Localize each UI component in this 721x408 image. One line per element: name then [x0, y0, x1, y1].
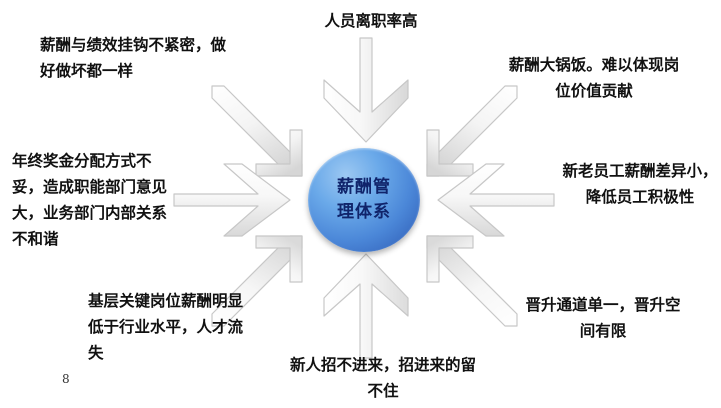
arrow-from-right: [432, 162, 558, 240]
slide-canvas: 薪酬管 理体系 薪酬与绩效挂钩不紧密，做好做坏都一样 人员离职率高 薪酬大锅饭。…: [0, 0, 721, 408]
arrow-from-bottom: [318, 252, 412, 364]
label-bottom: 新人招不进来，招进来的留不住: [288, 352, 478, 404]
page-number: 8: [62, 372, 70, 386]
arrow-from-top: [318, 36, 412, 148]
arrow-from-left: [172, 162, 298, 240]
center-circle-line-2: 理体系: [337, 200, 391, 225]
label-bottom-right: 晋升通道单一，晋升空间有限: [518, 292, 688, 344]
label-top-right: 薪酬大锅饭。难以体现岗位价值贡献: [508, 52, 680, 104]
center-circle: 薪酬管 理体系: [308, 148, 420, 252]
center-circle-line-1: 薪酬管: [337, 175, 391, 200]
label-left: 年终奖金分配方式不妥，造成职能部门意见大，业务部门内部关系不和谐: [12, 148, 182, 252]
label-right: 新老员工薪酬差异小，降低员工积极性: [560, 158, 720, 210]
label-top: 人员离职率高: [281, 8, 461, 34]
label-bottom-left: 基层关键岗位薪酬明显低于行业水平，人才流失: [88, 288, 253, 366]
arrow-from-bottom-right: [418, 233, 530, 341]
label-top-left: 薪酬与绩效挂钩不紧密，做好做坏都一样: [40, 32, 240, 84]
